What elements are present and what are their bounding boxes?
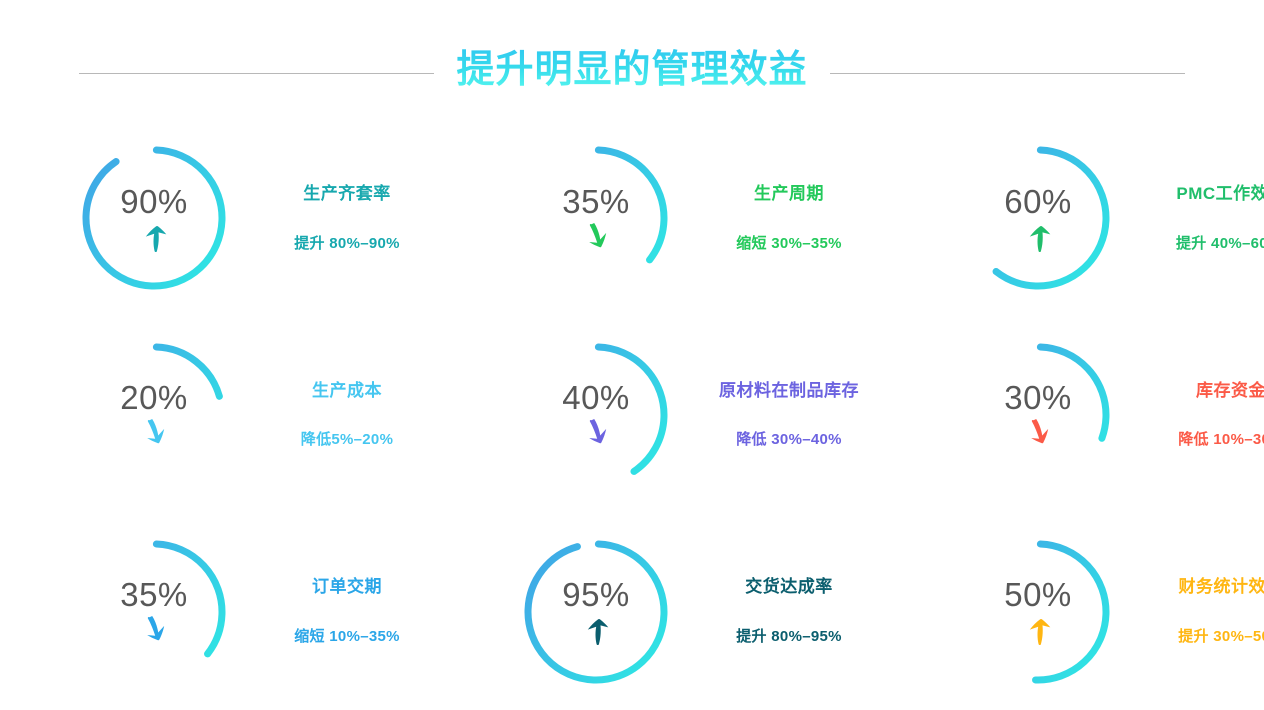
metric-name: 库存资金	[1196, 381, 1264, 401]
metric-name: 订单交期	[312, 577, 382, 597]
metric-delta: 提升 80%–90%	[294, 235, 400, 253]
gauge: 90%	[74, 138, 234, 298]
metric-delta: 降低 30%–40%	[736, 431, 842, 449]
gauge-labels: PMC工作效率提升 40%–60 %	[1136, 184, 1264, 252]
page-header: 提升明显的管理效益	[0, 44, 1264, 102]
arrow-up-icon	[1025, 222, 1051, 252]
gauge-center: 20%	[74, 335, 234, 495]
gauge: 40%	[516, 335, 676, 495]
gauge-labels: 财务统计效率提升 30%–50%	[1136, 577, 1264, 645]
page-title: 提升明显的管理效益	[452, 48, 811, 98]
metric-delta: 提升 30%–50%	[1178, 628, 1264, 646]
gauge-value: 40%	[562, 381, 630, 414]
header-rule-left	[79, 73, 434, 74]
metric-name: 交货达成率	[745, 577, 833, 597]
trend-arrow	[141, 418, 167, 448]
trend-arrow	[583, 615, 609, 645]
gauge-labels: 生产周期缩短 30%–35%	[694, 184, 884, 252]
gauge-center: 95%	[516, 532, 676, 692]
metric-delta: 缩短 10%–35%	[294, 628, 400, 646]
gauge-cell: 50%财务统计效率提升 30%–50%	[884, 513, 1264, 710]
gauge-value: 60%	[1004, 185, 1072, 218]
metric-delta: 提升 40%–60 %	[1176, 235, 1264, 253]
gauge-labels: 生产齐套率提升 80%–90%	[252, 184, 442, 252]
arrow-up-icon	[141, 222, 167, 252]
gauge-value: 95%	[562, 578, 630, 611]
gauge: 50%	[958, 532, 1118, 692]
gauge-cell: 60%PMC工作效率提升 40%–60 %	[884, 120, 1264, 317]
gauge-grid: 90%生产齐套率提升 80%–90%35%生产周期缩短 30%–35%60%PM…	[0, 120, 1264, 710]
metric-delta: 降低 10%–30%	[1178, 431, 1264, 449]
gauge-center: 35%	[516, 138, 676, 298]
trend-arrow	[583, 222, 609, 252]
gauge-value: 50%	[1004, 578, 1072, 611]
gauge: 35%	[516, 138, 676, 298]
metric-name: 原材料在制品库存	[719, 381, 859, 401]
metric-delta: 提升 80%–95%	[736, 628, 842, 646]
gauge: 30%	[958, 335, 1118, 495]
gauge-cell: 90%生产齐套率提升 80%–90%	[0, 120, 442, 317]
metric-delta: 缩短 30%–35%	[736, 235, 842, 253]
metric-name: PMC工作效率	[1176, 184, 1264, 204]
gauge: 35%	[74, 532, 234, 692]
gauge: 20%	[74, 335, 234, 495]
gauge-value: 35%	[120, 578, 188, 611]
arrow-down-icon	[141, 615, 167, 645]
gauge-center: 50%	[958, 532, 1118, 692]
metric-name: 生产周期	[754, 184, 824, 204]
gauge-center: 90%	[74, 138, 234, 298]
gauge-labels: 生产成本降低5%–20%	[252, 381, 442, 449]
gauge-value: 90%	[120, 185, 188, 218]
gauge-center: 60%	[958, 138, 1118, 298]
gauge: 60%	[958, 138, 1118, 298]
gauge-labels: 库存资金降低 10%–30%	[1136, 381, 1264, 449]
metric-name: 生产成本	[312, 381, 382, 401]
gauge-labels: 订单交期缩短 10%–35%	[252, 577, 442, 645]
gauge-labels: 原材料在制品库存降低 30%–40%	[694, 381, 884, 449]
gauge-cell: 20%生产成本降低5%–20%	[0, 317, 442, 514]
gauge-value: 35%	[562, 185, 630, 218]
gauge-center: 40%	[516, 335, 676, 495]
gauge-cell: 40%原材料在制品库存降低 30%–40%	[442, 317, 884, 514]
header-rule-right	[830, 73, 1185, 74]
arrow-down-icon	[141, 418, 167, 448]
gauge-labels: 交货达成率提升 80%–95%	[694, 577, 884, 645]
gauge: 95%	[516, 532, 676, 692]
trend-arrow	[1025, 418, 1051, 448]
metric-delta: 降低5%–20%	[301, 431, 393, 449]
trend-arrow	[1025, 615, 1051, 645]
gauge-cell: 30%库存资金降低 10%–30%	[884, 317, 1264, 514]
metric-name: 财务统计效率	[1179, 577, 1264, 597]
arrow-down-icon	[583, 222, 609, 252]
gauge-cell: 35%生产周期缩短 30%–35%	[442, 120, 884, 317]
gauge-center: 30%	[958, 335, 1118, 495]
arrow-up-icon	[1025, 615, 1051, 645]
gauge-value: 30%	[1004, 381, 1072, 414]
trend-arrow	[141, 615, 167, 645]
gauge-center: 35%	[74, 532, 234, 692]
metric-name: 生产齐套率	[303, 184, 391, 204]
arrow-down-icon	[1025, 418, 1051, 448]
gauge-cell: 95%交货达成率提升 80%–95%	[442, 513, 884, 710]
gauge-value: 20%	[120, 381, 188, 414]
arrow-down-icon	[583, 418, 609, 448]
trend-arrow	[141, 222, 167, 252]
trend-arrow	[583, 418, 609, 448]
trend-arrow	[1025, 222, 1051, 252]
gauge-cell: 35%订单交期缩短 10%–35%	[0, 513, 442, 710]
arrow-up-icon	[583, 615, 609, 645]
